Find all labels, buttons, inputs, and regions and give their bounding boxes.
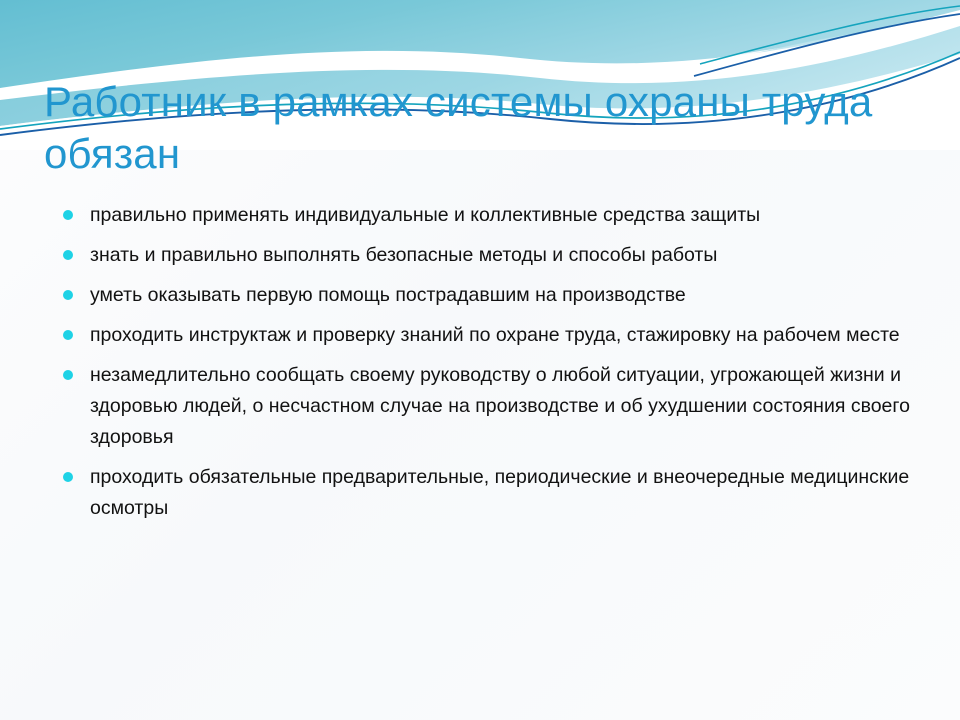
bullet-list: правильно применять индивидуальные и кол… (52, 200, 932, 524)
bullet-item: уметь оказывать первую помощь пострадавш… (52, 280, 932, 311)
bullet-item: незамедлительно сообщать своему руководс… (52, 360, 932, 453)
bullet-dot-icon (63, 250, 73, 260)
wave-line-teal-upper (700, 6, 960, 64)
bullet-text: знать и правильно выполнять безопасные м… (90, 240, 932, 271)
bullet-item: проходить инструктаж и проверку знаний п… (52, 320, 932, 351)
bullet-text: уметь оказывать первую помощь пострадавш… (90, 280, 932, 311)
content-block: правильно применять индивидуальные и кол… (52, 200, 932, 524)
bullet-text: правильно применять индивидуальные и кол… (90, 200, 932, 231)
bullet-dot-icon (63, 472, 73, 482)
slide-title: Работник в рамках системы охраны труда о… (44, 76, 874, 180)
bullet-text: незамедлительно сообщать своему руководс… (90, 360, 932, 453)
presentation-slide: Работник в рамках системы охраны труда о… (0, 0, 960, 720)
wave-line-navy-upper (694, 14, 960, 76)
bullet-dot-icon (63, 290, 73, 300)
bullet-item: знать и правильно выполнять безопасные м… (52, 240, 932, 271)
bullet-item: правильно применять индивидуальные и кол… (52, 200, 932, 231)
bullet-dot-icon (63, 210, 73, 220)
bullet-dot-icon (63, 370, 73, 380)
bullet-text: проходить инструктаж и проверку знаний п… (90, 320, 932, 351)
bullet-item: проходить обязательные предварительные, … (52, 462, 932, 524)
bullet-text: проходить обязательные предварительные, … (90, 462, 932, 524)
title-block: Работник в рамках системы охраны труда о… (44, 76, 874, 180)
bullet-dot-icon (63, 330, 73, 340)
